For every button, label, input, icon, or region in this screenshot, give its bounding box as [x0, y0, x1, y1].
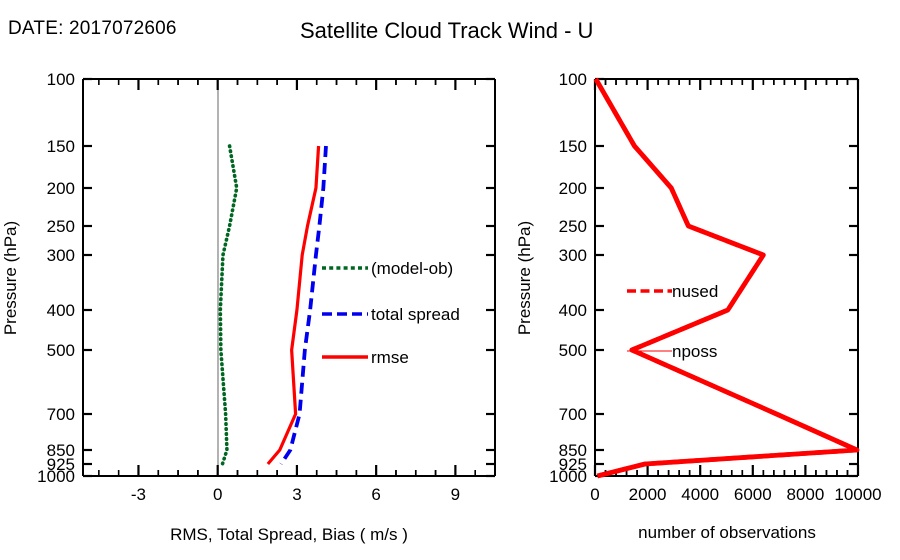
y-tick-label: 200: [559, 179, 587, 198]
y-tick-label: 250: [559, 217, 587, 236]
left-x-ticks: [99, 0, 475, 476]
left-legend: (model-ob) total spread rmse: [322, 259, 460, 367]
x-tick-label: 6000: [734, 485, 772, 504]
right-series-group: [596, 79, 857, 476]
series-line-total-spread: [281, 146, 326, 464]
y-tick-label: 150: [559, 137, 587, 156]
y-tick-label: 300: [559, 246, 587, 265]
x-tick-label: 0: [213, 485, 222, 504]
left-x-tick-labels: -30369: [131, 485, 460, 504]
y-tick-label: 500: [559, 341, 587, 360]
right-y-axis-title: Pressure (hPa): [515, 221, 534, 335]
x-tick-label: 8000: [786, 485, 824, 504]
right-x-ticks: [595, 0, 858, 476]
right-axis-frame: [595, 79, 858, 476]
y-tick-label: 250: [47, 217, 75, 236]
y-tick-label: 300: [47, 246, 75, 265]
x-tick-label: 9: [451, 485, 460, 504]
left-panel: 1001502002503004005007008509251000 -3036…: [1, 0, 495, 544]
x-tick-label: -3: [131, 485, 146, 504]
right-y-ticks: [595, 79, 858, 476]
y-tick-label: 400: [559, 301, 587, 320]
y-tick-label: 500: [47, 341, 75, 360]
legend-entry-rmse: rmse: [322, 348, 409, 367]
series-line-nposs: [596, 79, 857, 476]
right-y-tick-labels: 1001502002503004005007008509251000: [549, 70, 587, 486]
legend-entry-bias: (model-ob): [322, 259, 453, 278]
x-tick-label: 6: [371, 485, 380, 504]
chart-page: DATE: 2017072606 Satellite Cloud Track W…: [0, 0, 900, 560]
left-x-axis-title: RMS, Total Spread, Bias ( m/s ): [170, 525, 408, 544]
y-tick-label: 150: [47, 137, 75, 156]
y-tick-label: 700: [47, 405, 75, 424]
y-tick-label: 200: [47, 179, 75, 198]
y-tick-label: 1000: [37, 467, 75, 486]
x-tick-label: 4000: [681, 485, 719, 504]
y-tick-label: 100: [559, 70, 587, 89]
series-line-nused: [596, 79, 857, 476]
x-tick-label: 10000: [834, 485, 881, 504]
legend-label-bias: (model-ob): [371, 259, 453, 278]
y-tick-label: 400: [47, 301, 75, 320]
x-tick-label: 3: [292, 485, 301, 504]
y-tick-label: 700: [559, 405, 587, 424]
right-x-tick-labels: 0200040006000800010000: [590, 485, 881, 504]
left-y-tick-labels: 1001502002503004005007008509251000: [37, 70, 75, 486]
legend-entry-total-spread: total spread: [322, 305, 460, 324]
y-tick-label: 1000: [549, 467, 587, 486]
legend-label-rmse: rmse: [371, 348, 409, 367]
x-tick-label: 2000: [629, 485, 667, 504]
left-y-axis-title: Pressure (hPa): [1, 221, 20, 335]
legend-label-nposs: nposs: [672, 342, 717, 361]
legend-entry-nused: nused: [627, 282, 718, 301]
left-series-group: [220, 146, 326, 464]
right-x-axis-title: number of observations: [638, 523, 816, 542]
legend-label-nused: nused: [672, 282, 718, 301]
x-tick-label: 0: [590, 485, 599, 504]
right-panel: 1001502002503004005007008509251000 02000…: [515, 0, 882, 542]
y-tick-label: 100: [47, 70, 75, 89]
legend-label-total-spread: total spread: [371, 305, 460, 324]
series-line--model-ob-: [220, 146, 236, 464]
chart-canvas: 1001502002503004005007008509251000 -3036…: [0, 0, 900, 560]
